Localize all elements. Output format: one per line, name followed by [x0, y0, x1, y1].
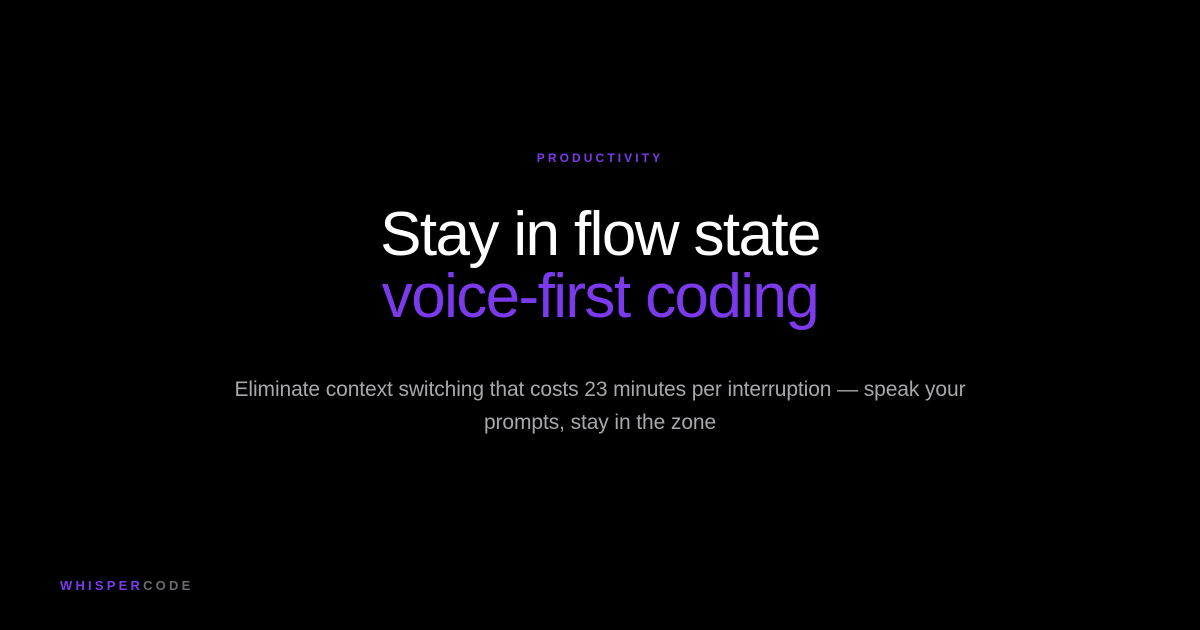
brand-wordmark-primary: WHISPER	[60, 578, 143, 593]
hero-eyebrow: PRODUCTIVITY	[537, 152, 664, 164]
brand-wordmark-secondary: CODE	[143, 578, 193, 593]
hero-headline: Stay in flow state voice-first coding	[380, 204, 820, 328]
headline-line-accent: voice-first coding	[380, 266, 820, 328]
promo-card: PRODUCTIVITY Stay in flow state voice-fi…	[0, 0, 1200, 630]
hero-subheadline: Eliminate context switching that costs 2…	[215, 373, 985, 439]
headline-line-primary: Stay in flow state	[380, 204, 820, 266]
brand-wordmark: WHISPERCODE	[60, 579, 193, 592]
hero-content: PRODUCTIVITY Stay in flow state voice-fi…	[0, 0, 1200, 630]
